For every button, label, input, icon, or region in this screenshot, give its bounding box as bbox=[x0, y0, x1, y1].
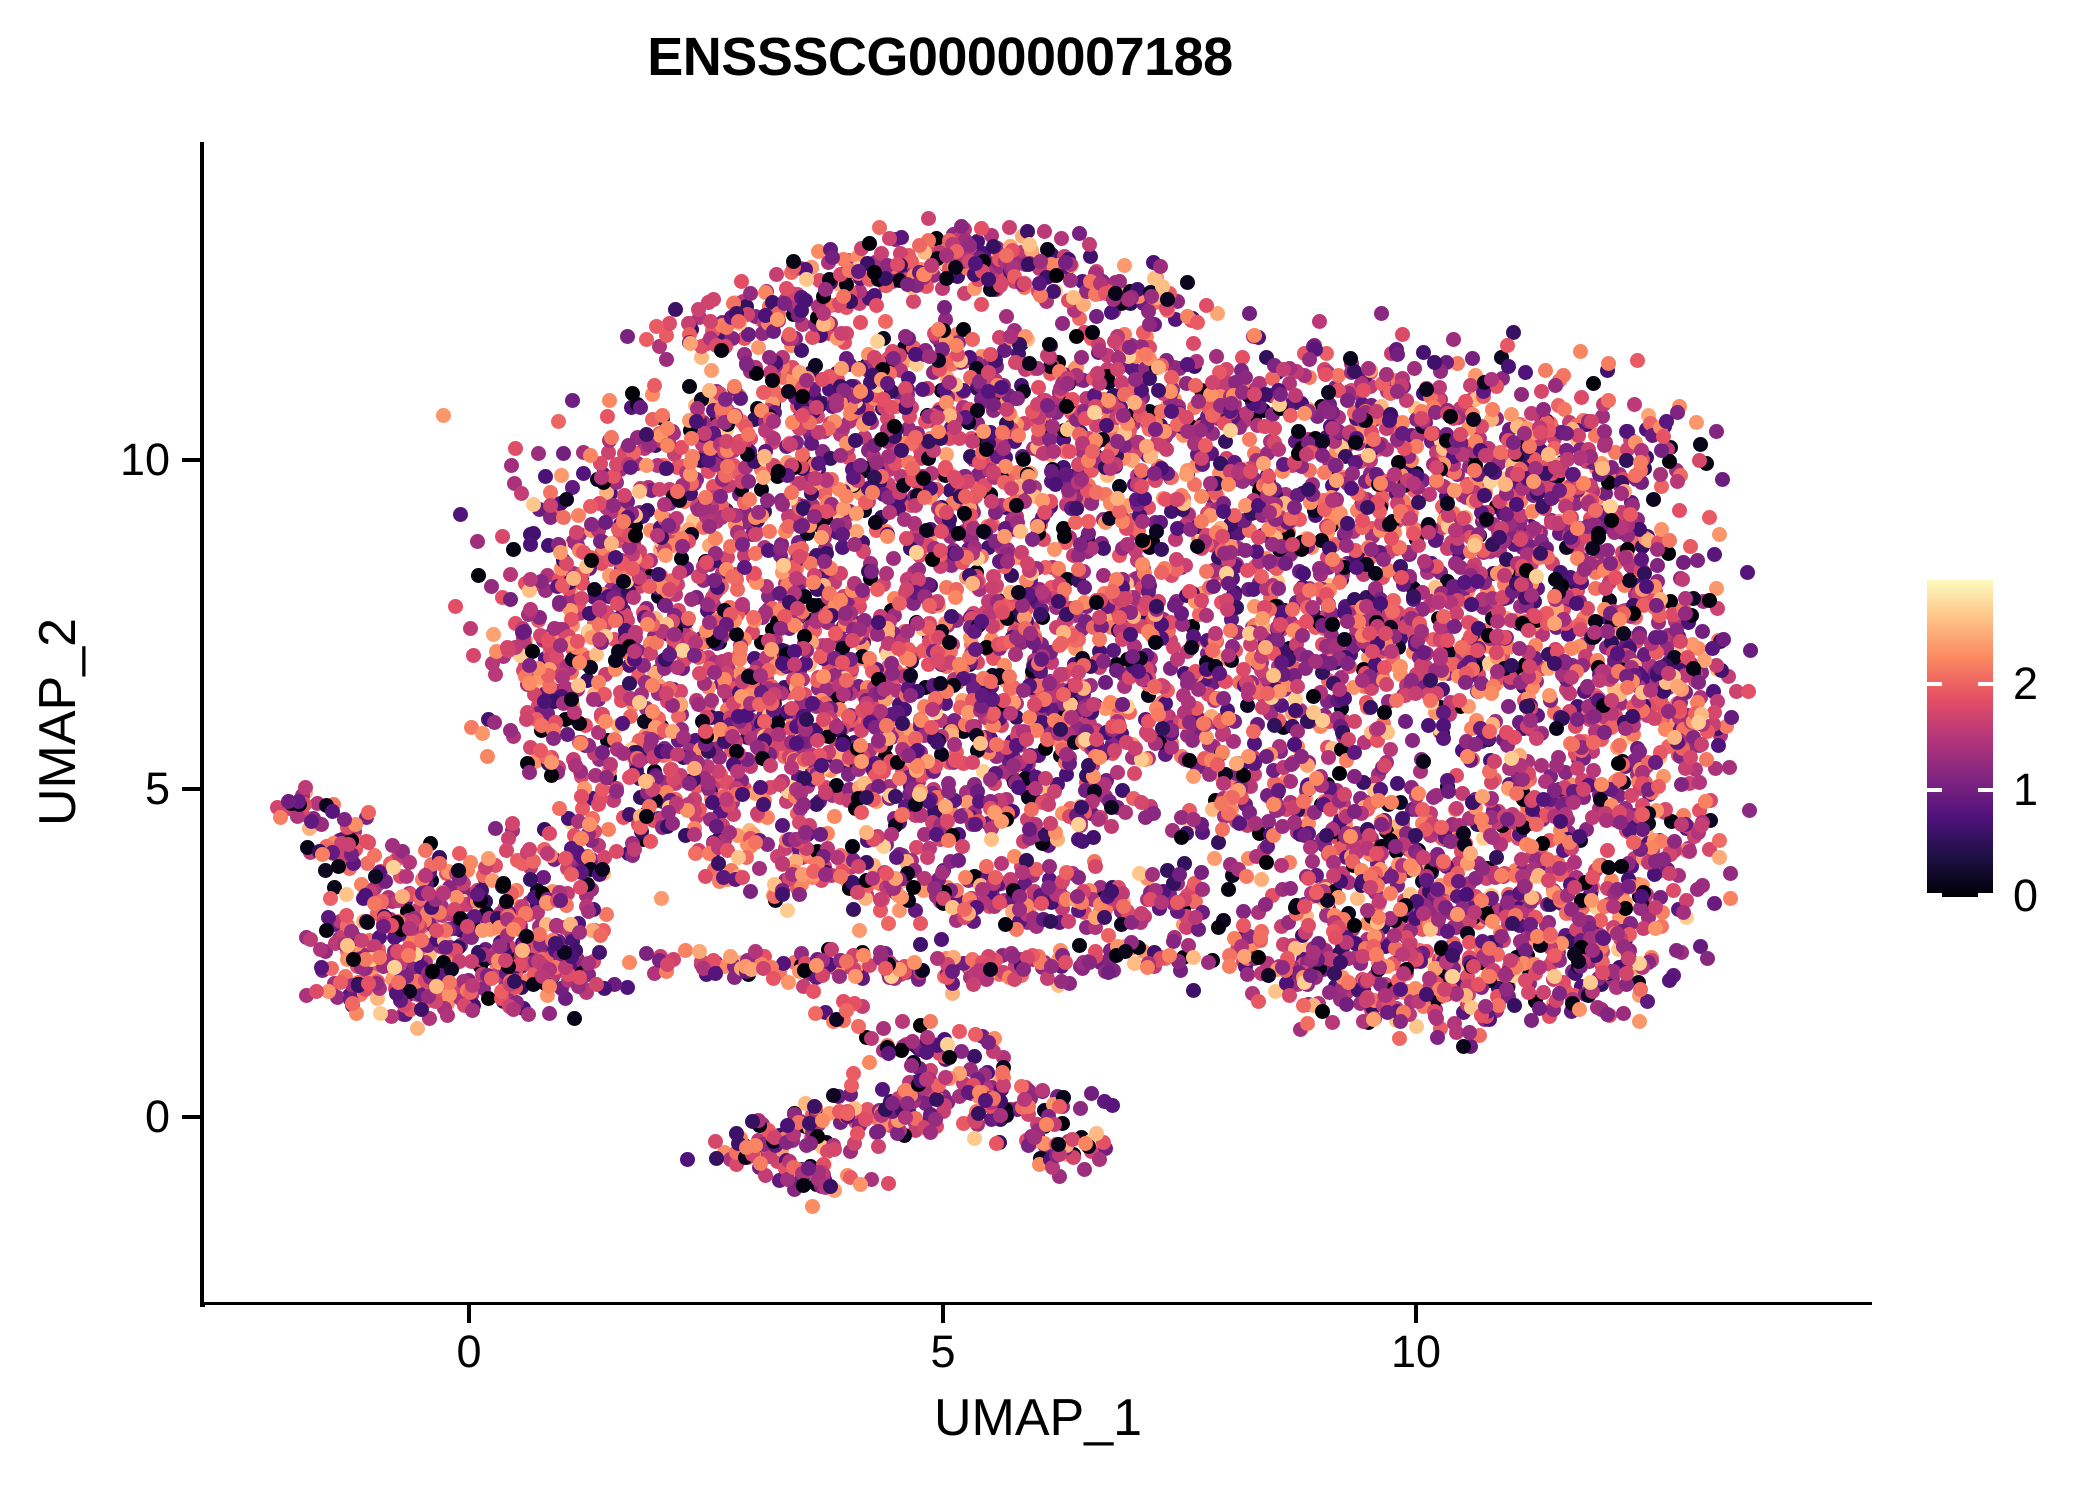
scatter-point bbox=[829, 719, 844, 734]
scatter-point bbox=[1414, 624, 1429, 639]
scatter-point bbox=[886, 551, 901, 566]
scatter-point bbox=[957, 506, 972, 521]
scatter-point bbox=[1127, 766, 1142, 781]
scatter-point bbox=[1180, 357, 1195, 372]
scatter-point bbox=[878, 314, 893, 329]
scatter-point bbox=[1431, 595, 1446, 610]
scatter-point bbox=[682, 379, 697, 394]
scatter-point bbox=[805, 330, 820, 345]
scatter-point bbox=[1004, 481, 1019, 496]
scatter-point bbox=[799, 712, 814, 727]
scatter-point bbox=[970, 403, 985, 418]
scatter-point bbox=[1315, 434, 1330, 449]
scatter-point bbox=[1377, 705, 1392, 720]
scatter-point bbox=[1360, 500, 1375, 515]
scatter-point bbox=[779, 281, 794, 296]
scatter-point bbox=[1071, 562, 1086, 577]
scatter-point bbox=[659, 461, 674, 476]
y-axis-title: UMAP_2 bbox=[28, 618, 88, 826]
scatter-point bbox=[1340, 516, 1355, 531]
scatter-point bbox=[569, 525, 584, 540]
scatter-point bbox=[1407, 361, 1422, 376]
scatter-point bbox=[876, 392, 891, 407]
x-tick-mark-0 bbox=[467, 1305, 471, 1323]
scatter-point bbox=[1148, 422, 1163, 437]
scatter-point bbox=[1427, 355, 1442, 370]
scatter-point bbox=[972, 484, 987, 499]
scatter-point bbox=[660, 438, 675, 453]
scatter-point bbox=[849, 506, 864, 521]
scatter-point bbox=[1548, 378, 1563, 393]
scatter-point bbox=[1203, 476, 1218, 491]
scatter-point bbox=[470, 534, 485, 549]
scatter-point bbox=[1148, 635, 1163, 650]
scatter-point bbox=[983, 347, 998, 362]
scatter-point bbox=[1196, 716, 1211, 731]
scatter-point bbox=[1616, 626, 1631, 641]
scatter-point bbox=[1285, 537, 1300, 552]
scatter-point bbox=[1574, 390, 1589, 405]
scatter-point bbox=[1569, 596, 1584, 611]
scatter-point bbox=[1356, 383, 1371, 398]
scatter-point bbox=[952, 657, 967, 672]
scatter-point bbox=[1740, 565, 1755, 580]
scatter-point bbox=[1364, 542, 1379, 557]
scatter-point bbox=[1185, 733, 1200, 748]
scatter-point bbox=[847, 537, 862, 552]
scatter-point bbox=[1394, 570, 1409, 585]
scatter-point bbox=[1595, 461, 1610, 476]
scatter-point bbox=[762, 524, 777, 539]
scatter-point bbox=[1689, 415, 1704, 430]
scatter-point bbox=[1055, 316, 1070, 331]
scatter-point bbox=[748, 527, 763, 542]
scatter-point bbox=[1408, 686, 1423, 701]
scatter-point bbox=[894, 443, 909, 458]
scatter-point bbox=[1090, 366, 1105, 381]
scatter-point bbox=[1707, 547, 1722, 562]
scatter-point bbox=[1301, 482, 1316, 497]
scatter-point bbox=[704, 693, 719, 708]
scatter-point bbox=[905, 461, 920, 476]
scatter-point bbox=[1656, 429, 1671, 444]
scatter-point bbox=[1191, 682, 1206, 697]
scatter-point bbox=[1047, 542, 1062, 557]
scatter-point bbox=[976, 524, 991, 539]
scatter-point bbox=[874, 432, 889, 447]
scatter-point bbox=[1092, 632, 1107, 647]
scatter-point bbox=[1328, 458, 1343, 473]
scatter-point bbox=[787, 657, 802, 672]
scatter-point bbox=[1194, 451, 1209, 466]
scatter-point bbox=[1562, 686, 1577, 701]
page-title: ENSSSCG00000007188 bbox=[0, 26, 1880, 88]
scatter-point bbox=[1022, 356, 1037, 371]
scatter-point bbox=[984, 494, 999, 509]
scatter-point bbox=[1378, 626, 1393, 641]
scatter-point bbox=[764, 642, 779, 657]
scatter-point bbox=[1271, 581, 1286, 596]
scatter-point bbox=[1308, 654, 1323, 669]
scatter-point bbox=[1424, 426, 1439, 441]
scatter-point bbox=[942, 635, 957, 650]
scatter-point bbox=[1573, 450, 1588, 465]
scatter-point bbox=[1000, 554, 1015, 569]
scatter-point bbox=[1477, 488, 1492, 503]
scatter-point bbox=[1147, 679, 1162, 694]
scatter-point bbox=[884, 656, 899, 671]
scatter-point bbox=[1318, 367, 1333, 382]
scatter-point bbox=[1340, 656, 1355, 671]
scatter-point bbox=[1184, 640, 1199, 655]
scatter-point bbox=[1077, 580, 1092, 595]
scatter-point bbox=[1628, 468, 1643, 483]
scatter-point bbox=[1112, 610, 1127, 625]
scatter-point bbox=[899, 582, 914, 597]
scatter-point bbox=[1447, 619, 1462, 634]
scatter-point bbox=[908, 347, 923, 362]
scatter-point bbox=[1452, 693, 1467, 708]
scatter-point bbox=[1074, 350, 1089, 365]
scatter-point bbox=[867, 470, 882, 485]
scatter-point bbox=[839, 673, 854, 688]
scatter-point bbox=[1489, 645, 1504, 660]
scatter-point bbox=[1241, 682, 1256, 697]
scatter-point bbox=[773, 621, 788, 636]
scatter-point bbox=[1022, 749, 1037, 764]
scatter-point bbox=[756, 470, 771, 485]
scatter-point bbox=[681, 611, 696, 626]
scatter-point bbox=[1347, 364, 1362, 379]
scatter-point bbox=[670, 484, 685, 499]
scatter-point bbox=[880, 529, 895, 544]
scatter-point bbox=[1052, 638, 1067, 653]
scatter-point bbox=[1466, 412, 1481, 427]
scatter-point bbox=[1205, 643, 1220, 658]
scatter-point bbox=[897, 512, 912, 527]
scatter-point bbox=[1492, 530, 1507, 545]
scatter-point bbox=[1016, 683, 1031, 698]
scatter-point bbox=[783, 437, 798, 452]
scatter-point bbox=[753, 668, 768, 683]
scatter-point bbox=[949, 338, 964, 353]
scatter-point bbox=[1099, 418, 1114, 433]
scatter-point bbox=[1464, 597, 1479, 612]
scatter-point bbox=[948, 590, 963, 605]
scatter-point bbox=[1634, 552, 1649, 567]
scatter-point bbox=[1526, 474, 1541, 489]
scatter-point bbox=[1059, 399, 1074, 414]
scatter-point bbox=[632, 484, 647, 499]
scatter-point bbox=[1120, 537, 1135, 552]
scatter-point bbox=[814, 758, 829, 773]
scatter-point bbox=[765, 373, 780, 388]
scatter-point bbox=[1500, 338, 1515, 353]
scatter-point bbox=[1690, 553, 1705, 568]
scatter-point bbox=[1329, 473, 1344, 488]
scatter-point bbox=[784, 485, 799, 500]
scatter-point bbox=[1379, 677, 1394, 692]
scatter-point bbox=[870, 582, 885, 597]
scatter-point bbox=[1085, 444, 1100, 459]
scatter-point bbox=[1273, 617, 1288, 632]
scatter-point bbox=[1565, 467, 1580, 482]
scatter-point bbox=[1366, 432, 1381, 447]
scatter-point bbox=[1547, 656, 1562, 671]
scatter-point bbox=[1240, 563, 1255, 578]
scatter-point bbox=[1087, 405, 1102, 420]
scatter-point bbox=[903, 688, 918, 703]
scatter-point bbox=[1199, 564, 1214, 579]
scatter-point bbox=[829, 398, 844, 413]
scatter-point bbox=[1398, 714, 1413, 729]
scatter-point bbox=[818, 785, 833, 800]
scatter-point bbox=[776, 558, 791, 573]
scatter-point bbox=[731, 440, 746, 455]
scatter-point bbox=[1251, 530, 1266, 545]
scatter-point bbox=[1322, 405, 1337, 420]
scatter-point bbox=[1518, 365, 1533, 380]
scatter-point bbox=[763, 758, 778, 773]
scatter-point bbox=[1312, 314, 1327, 329]
scatter-point bbox=[448, 599, 463, 614]
scatter-point bbox=[974, 297, 989, 312]
scatter-point bbox=[1639, 579, 1654, 594]
scatter-point bbox=[1040, 398, 1055, 413]
scatter-point bbox=[981, 384, 996, 399]
scatter-point bbox=[1368, 566, 1383, 581]
scatter-point bbox=[1023, 626, 1038, 641]
scatter-point bbox=[1325, 617, 1340, 632]
scatter-point bbox=[942, 375, 957, 390]
scatter-point bbox=[887, 419, 902, 434]
scatter-point bbox=[1485, 402, 1500, 417]
scatter-point bbox=[769, 267, 784, 282]
scatter-point bbox=[1715, 472, 1730, 487]
scatter-points-layer bbox=[204, 142, 1872, 1302]
scatter-point bbox=[855, 583, 870, 598]
scatter-point bbox=[1042, 676, 1057, 691]
scatter-point bbox=[994, 380, 1009, 395]
scatter-point bbox=[1384, 644, 1399, 659]
scatter-point bbox=[1180, 671, 1195, 686]
scatter-point bbox=[1006, 758, 1021, 773]
scatter-point bbox=[1702, 593, 1717, 608]
scatter-point bbox=[906, 294, 921, 309]
scatter-point bbox=[1098, 675, 1113, 690]
scatter-point bbox=[1709, 424, 1724, 439]
scatter-point bbox=[807, 509, 822, 524]
scatter-point bbox=[1361, 361, 1376, 376]
scatter-point bbox=[720, 459, 735, 474]
scatter-point bbox=[1429, 473, 1444, 488]
scatter-point bbox=[1016, 452, 1031, 467]
scatter-point bbox=[621, 438, 636, 453]
scatter-point bbox=[1069, 501, 1084, 516]
scatter-point bbox=[1110, 491, 1125, 506]
scatter-point bbox=[771, 727, 786, 742]
scatter-point bbox=[1614, 486, 1629, 501]
scatter-point bbox=[684, 431, 699, 446]
umap-feature-plot: ENSSSCG00000007188 10 5 0 0 5 10 UMAP_1 … bbox=[0, 0, 2100, 1500]
scatter-point bbox=[1693, 437, 1708, 452]
scatter-point bbox=[834, 361, 849, 376]
scatter-point bbox=[1519, 699, 1534, 714]
scatter-point bbox=[718, 392, 733, 407]
scatter-point bbox=[1659, 414, 1674, 429]
scatter-point bbox=[1465, 351, 1480, 366]
scatter-point bbox=[1345, 466, 1360, 481]
scatter-point bbox=[1349, 560, 1364, 575]
scatter-point bbox=[1059, 747, 1074, 762]
scatter-point bbox=[1112, 504, 1127, 519]
scatter-point bbox=[789, 736, 804, 751]
scatter-point bbox=[1302, 352, 1317, 367]
scatter-point bbox=[1325, 421, 1340, 436]
scatter-point bbox=[1154, 542, 1169, 557]
scatter-point bbox=[909, 545, 924, 560]
scatter-point bbox=[1678, 606, 1693, 621]
scatter-point bbox=[1221, 711, 1236, 726]
scatter-point bbox=[930, 735, 945, 750]
scatter-point bbox=[1290, 679, 1305, 694]
scatter-point bbox=[1057, 529, 1072, 544]
scatter-point bbox=[930, 410, 945, 425]
scatter-point bbox=[853, 315, 868, 330]
scatter-point bbox=[1267, 718, 1282, 733]
scatter-point bbox=[1008, 647, 1023, 662]
scatter-point bbox=[948, 753, 963, 768]
scatter-point bbox=[1238, 370, 1253, 385]
scatter-point bbox=[742, 492, 757, 507]
scatter-point bbox=[766, 414, 781, 429]
scatter-point bbox=[495, 529, 510, 544]
scatter-point bbox=[1301, 532, 1316, 547]
scatter-point bbox=[1216, 691, 1231, 706]
scatter-point bbox=[751, 505, 766, 520]
scatter-point bbox=[834, 326, 849, 341]
scatter-point bbox=[1086, 697, 1101, 712]
scatter-point bbox=[1436, 705, 1451, 720]
scatter-point bbox=[947, 737, 962, 752]
scatter-point bbox=[1118, 805, 1133, 820]
scatter-point bbox=[1374, 306, 1389, 321]
scatter-point bbox=[1199, 608, 1214, 623]
scatter-point bbox=[1390, 347, 1405, 362]
scatter-point bbox=[1588, 503, 1603, 518]
scatter-point bbox=[1022, 479, 1037, 494]
scatter-point bbox=[1538, 363, 1553, 378]
scatter-point bbox=[1433, 651, 1448, 666]
scatter-point bbox=[1188, 378, 1203, 393]
x-tick-label-0: 0 bbox=[456, 1326, 481, 1378]
scatter-point bbox=[1564, 641, 1579, 656]
scatter-point bbox=[1271, 442, 1286, 457]
scatter-point bbox=[1429, 460, 1444, 475]
scatter-point bbox=[1692, 453, 1707, 468]
scatter-point bbox=[925, 702, 940, 717]
scatter-point bbox=[1198, 438, 1213, 453]
scatter-point bbox=[1287, 500, 1302, 515]
scatter-point bbox=[1064, 710, 1079, 725]
scatter-point bbox=[1296, 566, 1311, 581]
scatter-point bbox=[900, 624, 915, 639]
scatter-point bbox=[1359, 599, 1374, 614]
scatter-point bbox=[989, 737, 1004, 752]
scatter-point bbox=[1504, 407, 1519, 422]
scatter-point bbox=[921, 211, 936, 226]
scatter-point bbox=[1306, 705, 1321, 720]
scatter-point bbox=[689, 414, 704, 429]
scatter-point bbox=[662, 647, 677, 662]
scatter-point bbox=[1273, 387, 1288, 402]
scatter-point bbox=[1355, 513, 1370, 528]
y-tick-label-0: 0 bbox=[60, 1091, 170, 1143]
scatter-point bbox=[1417, 554, 1432, 569]
scatter-point bbox=[1149, 524, 1164, 539]
scatter-point bbox=[1361, 448, 1376, 463]
scatter-point bbox=[1622, 573, 1637, 588]
scatter-point bbox=[1337, 632, 1352, 647]
scatter-point bbox=[1514, 387, 1529, 402]
scatter-point bbox=[1423, 693, 1438, 708]
scatter-point bbox=[1521, 623, 1536, 638]
scatter-point bbox=[892, 771, 907, 786]
scatter-point bbox=[1454, 640, 1469, 655]
scatter-point bbox=[602, 393, 617, 408]
scatter-point bbox=[625, 386, 640, 401]
scatter-point bbox=[1395, 327, 1410, 342]
scatter-point bbox=[902, 652, 917, 667]
scatter-point bbox=[1670, 474, 1685, 489]
scatter-point bbox=[1627, 397, 1642, 412]
x-tick-mark-10 bbox=[1414, 1305, 1418, 1323]
scatter-point bbox=[782, 327, 797, 342]
y-tick-mark-10 bbox=[182, 458, 200, 462]
scatter-point bbox=[853, 384, 868, 399]
scatter-point bbox=[1224, 396, 1239, 411]
scatter-point bbox=[790, 601, 805, 616]
scatter-point bbox=[795, 408, 810, 423]
scatter-point bbox=[879, 566, 894, 581]
scatter-point bbox=[1128, 741, 1143, 756]
scatter-point bbox=[1630, 353, 1645, 368]
scatter-point bbox=[1258, 640, 1273, 655]
scatter-point bbox=[659, 352, 674, 367]
scatter-point bbox=[1440, 633, 1455, 648]
scatter-point bbox=[735, 597, 750, 612]
scatter-point bbox=[1676, 555, 1691, 570]
scatter-point bbox=[1151, 360, 1166, 375]
scatter-point bbox=[1101, 393, 1116, 408]
scatter-point bbox=[871, 733, 886, 748]
scatter-point bbox=[1299, 447, 1314, 462]
scatter-point bbox=[1339, 538, 1354, 553]
scatter-point bbox=[835, 527, 850, 542]
scatter-point bbox=[1547, 616, 1562, 631]
scatter-point bbox=[1220, 602, 1235, 617]
scatter-point bbox=[1672, 503, 1687, 518]
scatter-point bbox=[995, 605, 1010, 620]
scatter-point bbox=[1623, 507, 1638, 522]
scatter-point bbox=[1154, 565, 1169, 580]
x-tick-label-5: 5 bbox=[930, 1326, 955, 1378]
scatter-point bbox=[1355, 673, 1370, 688]
scatter-point bbox=[639, 427, 654, 442]
scatter-point bbox=[829, 759, 844, 774]
scatter-point bbox=[1646, 492, 1661, 507]
scatter-point bbox=[892, 596, 907, 611]
